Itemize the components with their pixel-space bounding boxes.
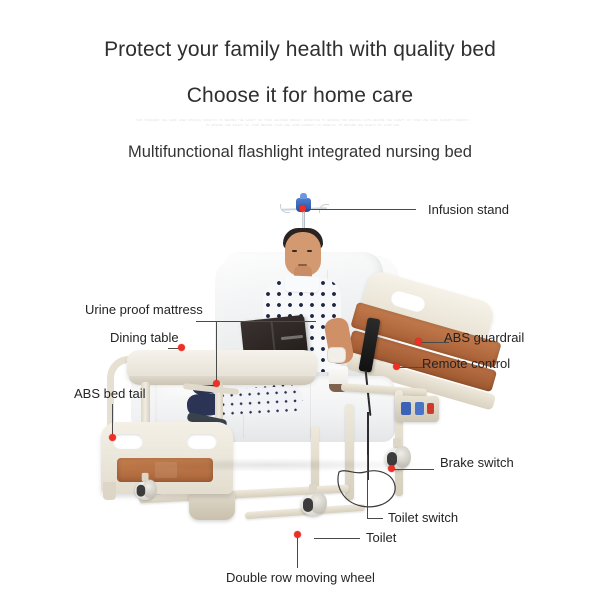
person-eye-right: [307, 250, 312, 252]
marker-infusion-stand: [299, 205, 306, 212]
leader-urine-mattress-h: [196, 321, 316, 322]
callout-toilet: Toilet: [366, 530, 396, 545]
leader-urine-mattress-v: [216, 321, 217, 383]
marker-double-row-wheel: [294, 531, 301, 538]
headline-primary: Protect your family health with quality …: [0, 38, 600, 62]
marker-abs-bed-tail: [109, 434, 116, 441]
toilet-pan: [189, 490, 235, 520]
callout-infusion-stand: Infusion stand: [428, 202, 509, 217]
callout-brake-switch: Brake switch: [440, 455, 514, 470]
callout-urine-proof-mattress: Urine proof mattress: [85, 302, 203, 317]
leader-toilet-switch-v: [367, 455, 368, 519]
bed-tail-grip-hole-right: [187, 434, 217, 449]
rear-caster-wheel: [135, 478, 157, 500]
leader-toilet: [314, 538, 360, 539]
foot-pedal-switch: [335, 466, 405, 510]
control-indicator-red: [427, 403, 434, 414]
leader-brake-switch: [392, 469, 434, 470]
callout-dining-table: Dining table: [110, 330, 179, 345]
control-indicator-blue: [401, 402, 411, 415]
headline-secondary: Choose it for home care: [0, 84, 600, 108]
leader-remote-control: [397, 367, 425, 368]
person-wrist-band: [328, 348, 345, 362]
leader-toilet-switch-h: [367, 518, 383, 519]
bed-tail-grip-hole-left: [113, 434, 143, 449]
person-eye-left: [292, 250, 297, 252]
callout-double-row-moving-wheel: Double row moving wheel: [226, 570, 375, 585]
leader-double-row-wheel: [297, 536, 298, 568]
callout-remote-control: Remote control: [422, 356, 510, 371]
infographic-canvas: Protect your family health with quality …: [0, 0, 600, 600]
callout-abs-bed-tail: ABS bed tail: [74, 386, 146, 401]
product-subtitle: Multifunctional flashlight integrated nu…: [0, 143, 600, 162]
callout-toilet-switch: Toilet switch: [388, 510, 458, 525]
marker-dining-table: [178, 344, 185, 351]
marker-abs-guardrail: [415, 338, 422, 345]
leader-infusion-stand: [303, 209, 416, 210]
marker-brake-switch: [388, 465, 395, 472]
fine-print-microtext: THIS STANDARD THE SAME USED SPECIFIC DIR…: [135, 119, 470, 128]
control-indicator-blue-2: [415, 402, 424, 415]
person-collar: [285, 275, 320, 292]
callout-abs-guardrail: ABS guardrail: [444, 330, 524, 345]
marker-urine-mattress: [213, 380, 220, 387]
product-photo: [95, 190, 505, 560]
marker-remote-control: [393, 363, 400, 370]
leader-abs-bed-tail: [112, 404, 113, 438]
bed-ground-shadow: [105, 458, 435, 472]
bed-tail-post: [103, 482, 116, 500]
double-row-moving-wheel: [301, 490, 327, 516]
